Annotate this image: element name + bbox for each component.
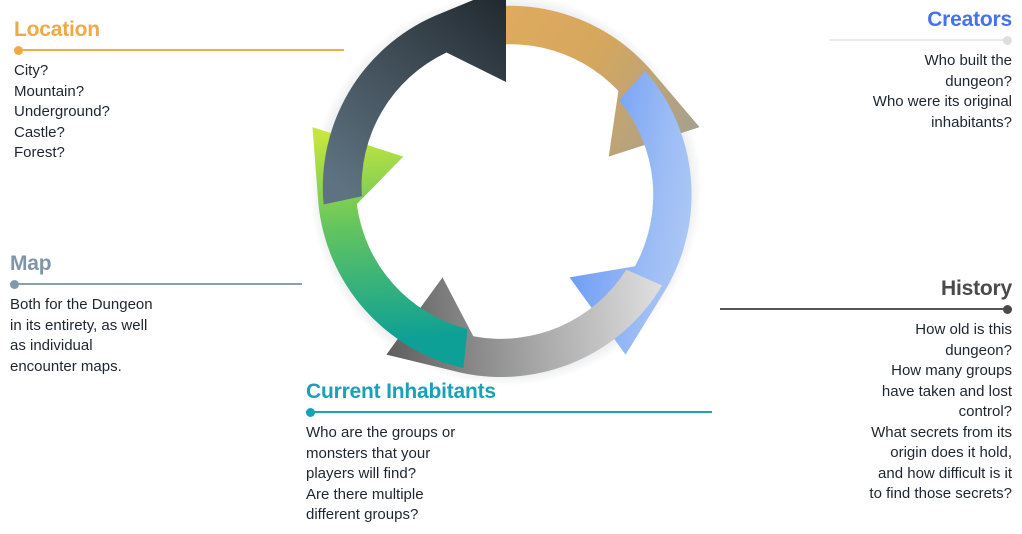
section-creators-title: Creators	[830, 8, 1012, 32]
section-current-inhabitants: Current Inhabitants Who are the groups o…	[306, 380, 712, 526]
section-current-inhabitants-body: Who are the groups or monsters that your…	[306, 423, 712, 526]
divider-bar	[306, 411, 712, 413]
body-line: Underground?	[14, 102, 344, 123]
divider-knob	[10, 280, 19, 289]
body-line: and how difficult is it	[720, 464, 1012, 485]
divider-bar	[830, 39, 1012, 41]
body-line: Who are the groups or	[306, 423, 712, 444]
section-location: Location City? Mountain? Underground? Ca…	[14, 18, 344, 164]
body-line: dungeon?	[720, 341, 1012, 362]
body-line: inhabitants?	[830, 113, 1012, 134]
body-line: as individual	[10, 336, 302, 357]
cycle-arrows-svg	[306, 0, 706, 390]
cycle-diagram	[306, 0, 706, 390]
section-creators-body: Who built the dungeon? Who were its orig…	[830, 51, 1012, 133]
diagram-canvas: Location City? Mountain? Underground? Ca…	[0, 0, 1022, 534]
body-line: What secrets from its	[720, 423, 1012, 444]
divider-knob	[14, 46, 23, 55]
body-line: dungeon?	[830, 72, 1012, 93]
body-line: encounter maps.	[10, 357, 302, 378]
body-line: Who were its original	[830, 92, 1012, 113]
section-history-title: History	[720, 277, 1012, 301]
body-line: have taken and lost	[720, 382, 1012, 403]
body-line: Both for the Dungeon	[10, 295, 302, 316]
section-creators-divider	[830, 35, 1012, 45]
body-line: in its entirety, as well	[10, 316, 302, 337]
body-line: different groups?	[306, 505, 712, 526]
body-line: Forest?	[14, 143, 344, 164]
body-line: Mountain?	[14, 82, 344, 103]
body-line: control?	[720, 402, 1012, 423]
body-line: How many groups	[720, 361, 1012, 382]
section-location-divider	[14, 45, 344, 55]
body-line: Castle?	[14, 123, 344, 144]
body-line: monsters that your	[306, 444, 712, 465]
divider-knob	[1003, 36, 1012, 45]
section-map-body: Both for the Dungeon in its entirety, as…	[10, 295, 302, 377]
section-map: Map Both for the Dungeon in its entirety…	[10, 252, 302, 377]
section-history-body: How old is this dungeon? How many groups…	[720, 320, 1012, 505]
section-current-inhabitants-divider	[306, 407, 712, 417]
body-line: City?	[14, 61, 344, 82]
divider-bar	[10, 283, 302, 285]
body-line: How old is this	[720, 320, 1012, 341]
body-line: players will find?	[306, 464, 712, 485]
divider-knob	[306, 408, 315, 417]
body-line: Are there multiple	[306, 485, 712, 506]
section-location-title: Location	[14, 18, 344, 42]
section-history: History How old is this dungeon? How man…	[720, 277, 1012, 505]
body-line: Who built the	[830, 51, 1012, 72]
divider-bar	[14, 49, 344, 51]
section-map-divider	[10, 279, 302, 289]
divider-bar	[720, 308, 1012, 310]
section-map-title: Map	[10, 252, 302, 276]
section-history-divider	[720, 304, 1012, 314]
body-line: to find those secrets?	[720, 484, 1012, 505]
section-creators: Creators Who built the dungeon? Who were…	[830, 8, 1012, 133]
divider-knob	[1003, 305, 1012, 314]
section-current-inhabitants-title: Current Inhabitants	[306, 380, 712, 404]
body-line: origin does it hold,	[720, 443, 1012, 464]
section-location-body: City? Mountain? Underground? Castle? For…	[14, 61, 344, 164]
